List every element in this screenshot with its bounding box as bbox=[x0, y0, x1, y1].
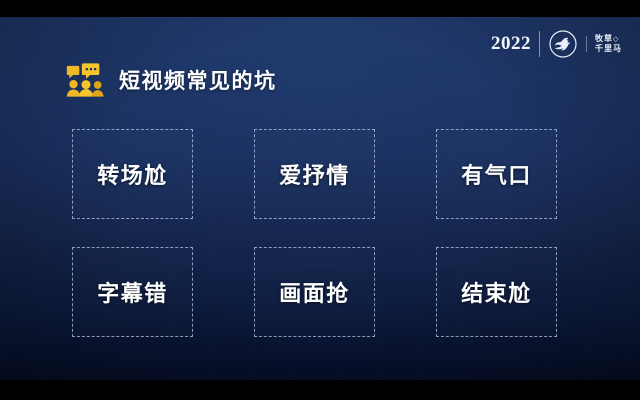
pitfall-grid: 转场尬 爱抒情 有气口 字幕错 画面抢 结束尬 bbox=[72, 129, 556, 337]
pegasus-winged-horse-icon bbox=[548, 30, 578, 58]
pitfall-card[interactable]: 字幕错 bbox=[72, 247, 193, 337]
brand-name-line1: 牧草◇ bbox=[595, 35, 622, 43]
brand-name-line2: 千里马 bbox=[595, 45, 622, 53]
pitfall-card[interactable]: 画面抢 bbox=[254, 247, 375, 337]
letterbox-bottom bbox=[0, 380, 640, 400]
slide-stage: 2022 牧草◇ 千里马 bbox=[0, 17, 640, 380]
brand-name: 牧草◇ 千里马 bbox=[595, 35, 622, 53]
pitfall-card[interactable]: 爱抒情 bbox=[254, 129, 375, 219]
slide-canvas: 2022 牧草◇ 千里马 bbox=[0, 0, 640, 400]
pitfall-label: 爱抒情 bbox=[279, 158, 350, 190]
pitfall-label: 有气口 bbox=[461, 158, 532, 190]
year-label: 2022 bbox=[491, 33, 531, 55]
pitfall-card[interactable]: 有气口 bbox=[436, 129, 557, 219]
letterbox-top bbox=[0, 0, 640, 17]
pitfall-label: 结束尬 bbox=[461, 276, 532, 308]
pitfall-label: 画面抢 bbox=[279, 276, 350, 308]
people-speech-bubbles-icon bbox=[66, 63, 106, 97]
page-title: 短视频常见的坑 bbox=[119, 65, 277, 95]
pitfall-card[interactable]: 结束尬 bbox=[436, 247, 557, 337]
brand-divider bbox=[539, 31, 540, 57]
pitfall-label: 转场尬 bbox=[97, 158, 168, 190]
pitfall-label: 字幕错 bbox=[97, 276, 168, 308]
brand-diamond-mark: ◇ bbox=[613, 35, 619, 43]
pitfall-card[interactable]: 转场尬 bbox=[72, 129, 193, 219]
slide-header: 短视频常见的坑 bbox=[66, 63, 277, 97]
brand-text-separator bbox=[586, 36, 587, 52]
brand-cluster: 2022 牧草◇ 千里马 bbox=[491, 30, 622, 58]
